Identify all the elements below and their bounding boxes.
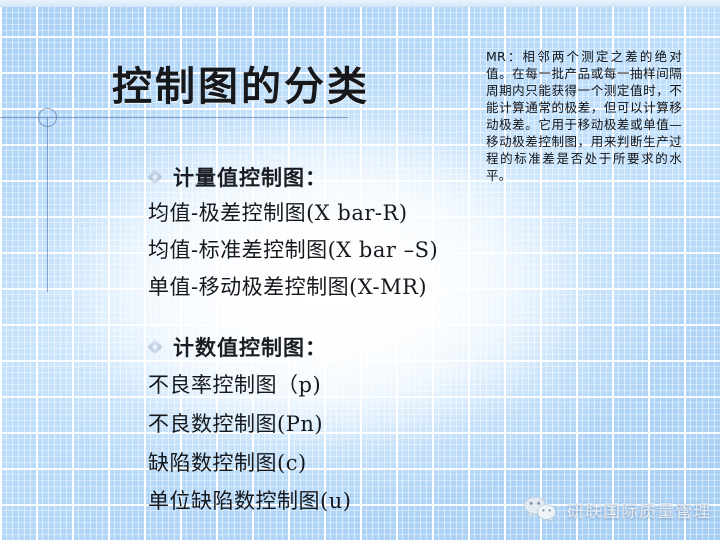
diamond-bullet-icon <box>148 341 161 354</box>
list-item: 不良率控制图（p) <box>148 371 351 401</box>
list-item: 单位缺陷数控制图(u) <box>148 487 351 517</box>
section-heading-row: 计量值控制图： <box>148 162 438 192</box>
list-item: 均值-极差控制图(X bar-R) <box>148 199 438 229</box>
watermark: 研联国际质量管理 <box>520 494 711 524</box>
diamond-bullet-icon <box>148 171 161 184</box>
section-counted-control-charts: 计数值控制图： 不良率控制图（p) 不良数控制图(Pn) 缺陷数控制图(c) 单… <box>148 332 351 517</box>
decorative-circle-icon <box>38 108 57 127</box>
page-title: 控制图的分类 <box>112 64 370 110</box>
list-item: 缺陷数控制图(c) <box>148 449 351 479</box>
slide-canvas: 控制图的分类 计量值控制图： 均值-极差控制图(X bar-R) 均值-标准差控… <box>0 0 720 540</box>
wechat-icon <box>520 494 560 524</box>
decorative-vertical-line <box>47 117 48 292</box>
section-heading-label: 计数值控制图： <box>173 332 327 362</box>
list-item: 不良数控制图(Pn) <box>148 410 351 440</box>
section-heading-row: 计数值控制图： <box>148 332 351 362</box>
section-measured-control-charts: 计量值控制图： 均值-极差控制图(X bar-R) 均值-标准差控制图(X ba… <box>148 162 438 302</box>
list-item: 单值-移动极差控制图(X-MR) <box>148 273 438 303</box>
watermark-label: 研联国际质量管理 <box>567 497 711 522</box>
side-note-mr-definition: MR：相邻两个测定之差的绝对值。在每一批产品或每一抽样间隔周期内只能获得一个测定… <box>486 48 682 184</box>
background-top-band <box>0 0 720 7</box>
list-item: 均值-标准差控制图(X bar –S) <box>148 236 438 266</box>
section-heading-label: 计量值控制图： <box>173 162 327 192</box>
